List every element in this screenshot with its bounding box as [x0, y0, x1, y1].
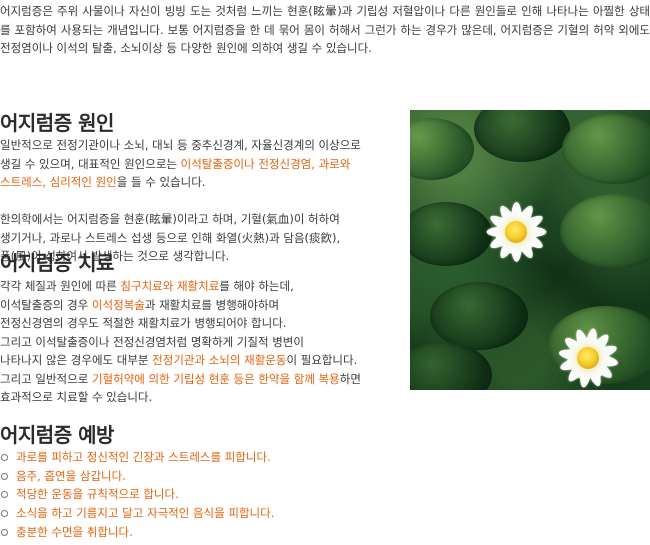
treatment-line-4: 그리고 이석탈출증이나 전정신경염처럼 명확하게 기질적 병변이	[0, 333, 400, 352]
section-body-treatment: 각각 체질과 원인에 따른 침구치료와 재활치료를 해야 하는데, 이석탈출증의…	[0, 277, 400, 407]
list-item-label: 음주, 흡연을 삼갑니다.	[16, 469, 126, 483]
treatment-line-7: 효과적으로 치료할 수 있습니다.	[0, 388, 400, 407]
cause-line-2-plain: 생길 수 있으며, 대표적인 원인으로는	[0, 157, 181, 171]
list-item: 과로를 피하고 정신적인 긴장과 스트레스를 피합니다.	[0, 448, 274, 467]
lily-pad-icon	[474, 110, 570, 162]
cause-line-3-tail: 을 들 수 있습니다.	[117, 175, 206, 189]
bullet-icon	[1, 454, 8, 461]
cause-line-2-emphasis: 이석탈출증이나 전정신경염, 과로와	[181, 157, 351, 171]
cause-line-1: 일반적으로 전정기관이나 소뇌, 대뇌 등 중추신경계, 자율신경계의 이상으로	[0, 136, 395, 155]
list-item: 적당한 운동을 규칙적으로 합니다.	[0, 485, 274, 504]
treatment-line-3-pre: 전정신경염의 경우도 적절한 재활치료가 병행되어야 합니다.	[0, 316, 286, 330]
section-heading-treatment: 어지럼증 치료	[0, 247, 114, 276]
bullet-icon	[1, 473, 8, 480]
lily-pad-icon	[430, 282, 528, 350]
list-item-label: 적당한 운동을 규칙적으로 합니다.	[16, 487, 179, 501]
treatment-line-7-pre: 효과적으로 치료할 수 있습니다.	[0, 390, 152, 404]
list-item-label: 충분한 수면을 취합니다.	[16, 525, 133, 539]
treatment-line-4-pre: 그리고 이석탈출증이나 전정신경염처럼 명확하게 기질적 병변이	[0, 335, 304, 349]
lily-pad-icon	[562, 114, 650, 184]
cause-line-3-emphasis: 스트레스, 심리적인 원인	[0, 175, 117, 189]
photo-background	[410, 110, 650, 390]
cause-line-2: 생길 수 있으며, 대표적인 원인으로는 이석탈출증이나 전정신경염, 과로와	[0, 155, 395, 174]
treatment-line-2-em: 이석정복술	[92, 298, 145, 312]
water-lily-flower	[536, 306, 640, 390]
list-item: 소식을 하고 기름지고 달고 자극적인 음식을 피합니다.	[0, 504, 274, 523]
water-lily-photo	[410, 110, 650, 390]
treatment-line-5-post: 이 필요합니다.	[286, 353, 357, 367]
lily-pad-icon	[560, 194, 650, 268]
article-page: 어지럼증은 주위 사물이나 자신이 빙빙 도는 것처럼 느끼는 현훈(眩暈)과 …	[0, 0, 650, 545]
list-item-label: 과로를 피하고 정신적인 긴장과 스트레스를 피합니다.	[16, 450, 271, 464]
treatment-line-5: 나타나지 않은 경우에도 대부분 전정기관과 소뇌의 재활운동이 필요합니다.	[0, 351, 400, 370]
list-item: 충분한 수면을 취합니다.	[0, 523, 274, 542]
treatment-line-5-em: 전정기관과 소뇌의 재활운동	[152, 353, 286, 367]
cause-line-5: 한의학에서는 어지럼증을 현훈(眩暈)이라고 하며, 기혈(氣血)이 허하여	[0, 210, 395, 229]
bullet-icon	[1, 510, 8, 517]
treatment-line-2-post: 과 재활치료를 병행해야하며	[145, 298, 279, 312]
flower-center	[577, 347, 599, 369]
cause-line-6: 생기거나, 과로나 스트레스 섭생 등으로 인해 화열(火熱)과 담음(痰飮),	[0, 229, 395, 248]
prevention-list: 과로를 피하고 정신적인 긴장과 스트레스를 피합니다. 음주, 흡연을 삼갑니…	[0, 448, 274, 542]
treatment-line-2-pre: 이석탈출증의 경우	[0, 298, 92, 312]
treatment-line-6-post: 하면	[340, 372, 361, 386]
treatment-line-2: 이석탈출증의 경우 이석정복술과 재활치료를 병행해야하며	[0, 296, 400, 315]
treatment-line-1: 각각 체질과 원인에 따른 침구치료와 재활치료를 해야 하는데,	[0, 277, 400, 296]
intro-paragraph: 어지럼증은 주위 사물이나 자신이 빙빙 도는 것처럼 느끼는 현훈(眩暈)과 …	[0, 2, 650, 58]
treatment-line-1-pre: 각각 체질과 원인에 따른	[0, 279, 120, 293]
cause-line-3: 스트레스, 심리적인 원인을 들 수 있습니다.	[0, 173, 395, 192]
water-lily-flower	[468, 184, 564, 280]
bullet-icon	[1, 491, 8, 498]
treatment-line-1-em: 침구치료와 재활치료	[120, 279, 219, 293]
treatment-line-6: 그리고 일반적으로 기혈허약에 의한 기립성 현훈 등은 한약을 함께 복용하면	[0, 370, 400, 389]
list-item-label: 소식을 하고 기름지고 달고 자극적인 음식을 피합니다.	[16, 506, 274, 520]
treatment-line-5-pre: 나타나지 않은 경우에도 대부분	[0, 353, 152, 367]
list-item: 음주, 흡연을 삼갑니다.	[0, 467, 274, 486]
lily-pad-icon	[410, 118, 474, 180]
bullet-icon	[1, 529, 8, 536]
treatment-line-6-em: 기혈허약에 의한 기립성 현훈 등은 한약을 함께 복용	[92, 372, 340, 386]
section-heading-prevention: 어지럼증 예방	[0, 419, 114, 448]
intro-text: 어지럼증은 주위 사물이나 자신이 빙빙 도는 것처럼 느끼는 현훈(眩暈)과 …	[0, 2, 650, 58]
flower-center	[505, 221, 527, 243]
treatment-line-6-pre: 그리고 일반적으로	[0, 372, 92, 386]
treatment-line-1-post: 를 해야 하는데,	[219, 279, 293, 293]
cause-spacer	[0, 192, 395, 211]
treatment-line-3: 전정신경염의 경우도 적절한 재활치료가 병행되어야 합니다.	[0, 314, 400, 333]
section-heading-cause: 어지럼증 원인	[0, 107, 114, 136]
